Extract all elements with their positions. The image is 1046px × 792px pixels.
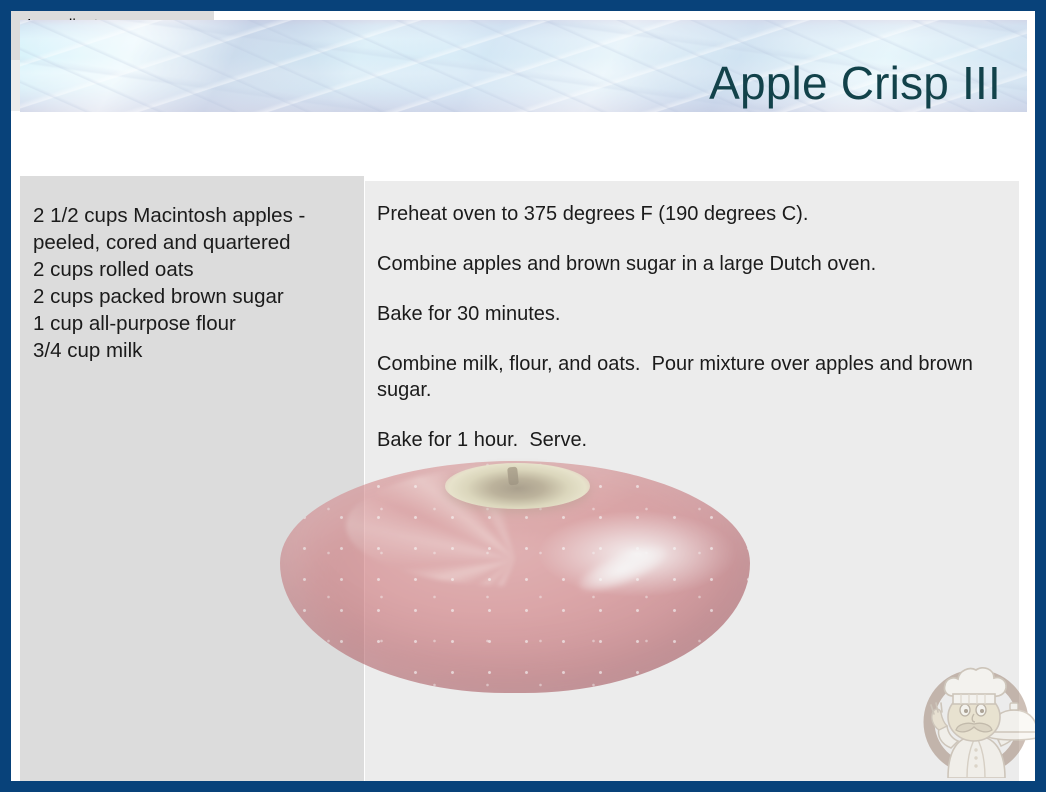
directions-panel: Preheat oven to 375 degrees F (190 degre… bbox=[365, 181, 1019, 781]
direction-step: Bake for 30 minutes. bbox=[377, 301, 1022, 327]
directions-list: Preheat oven to 375 degrees F (190 degre… bbox=[377, 201, 1022, 453]
page-title: Apple Crisp III bbox=[709, 59, 1001, 108]
slide-frame: Apple Crisp III Ingredients 2 1/2 cups M… bbox=[0, 0, 1046, 792]
slide-canvas: Apple Crisp III Ingredients 2 1/2 cups M… bbox=[11, 11, 1035, 781]
direction-step: Preheat oven to 375 degrees F (190 degre… bbox=[377, 201, 1022, 227]
ingredients-panel: 2 1/2 cups Macintosh apples - peeled, co… bbox=[20, 176, 364, 781]
direction-step: Combine apples and brown sugar in a larg… bbox=[377, 251, 1022, 277]
direction-step: Bake for 1 hour. Serve. bbox=[377, 427, 1022, 453]
ingredients-list: 2 1/2 cups Macintosh apples - peeled, co… bbox=[33, 202, 348, 364]
direction-step: Combine milk, flour, and oats. Pour mixt… bbox=[377, 351, 1022, 403]
title-banner: Apple Crisp III bbox=[20, 20, 1027, 112]
